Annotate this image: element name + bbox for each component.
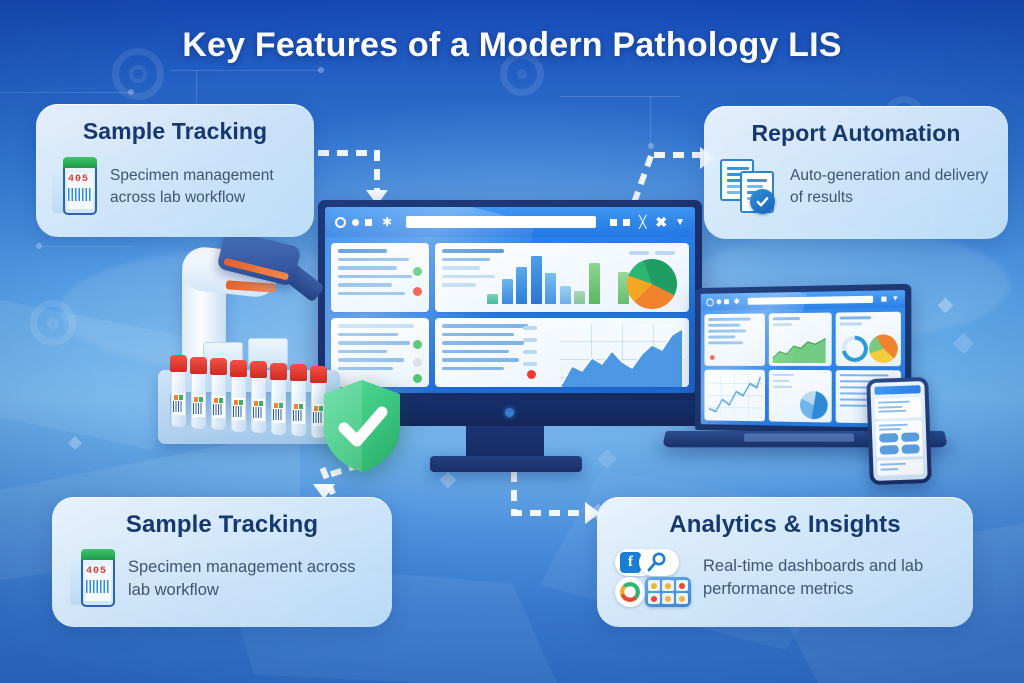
- feature-card-sample-tracking-bottom[interactable]: Sample Tracking 405 Specimen management …: [52, 497, 392, 627]
- card-description: Specimen management across lab workflow: [128, 556, 374, 603]
- check-badge-icon: [750, 189, 775, 214]
- grid-dashboard-icon: [645, 577, 691, 607]
- specimen-container-icon: 405: [52, 157, 98, 217]
- facebook-letter: f: [620, 552, 641, 573]
- card-title: Sample Tracking: [52, 118, 298, 145]
- card-title: Sample Tracking: [70, 511, 374, 539]
- feature-card-report-automation[interactable]: Report Automation: [704, 106, 1008, 239]
- feature-card-analytics-insights[interactable]: Analytics & Insights f Real-time: [597, 497, 973, 627]
- infographic-canvas: Key Features of a Modern Pathology LIS ✱: [0, 0, 1024, 683]
- card-description: Auto-generation and delivery of results: [790, 165, 992, 209]
- card-description: Specimen management across lab workflow: [110, 165, 298, 209]
- magnifier-icon: [639, 549, 679, 576]
- card-description: Real-time dashboards and lab performance…: [703, 555, 955, 602]
- specimen-digits: 405: [68, 174, 89, 185]
- analytics-cluster-icon: f: [615, 549, 691, 607]
- donut-chart-icon: [615, 577, 645, 607]
- feature-card-sample-tracking-top[interactable]: Sample Tracking 405 Specimen management …: [36, 104, 314, 237]
- specimen-digits: 405: [86, 566, 107, 577]
- documents-check-icon: [720, 159, 778, 215]
- specimen-container-icon: 405: [70, 549, 116, 609]
- card-title: Report Automation: [720, 120, 992, 147]
- card-title: Analytics & Insights: [615, 511, 955, 539]
